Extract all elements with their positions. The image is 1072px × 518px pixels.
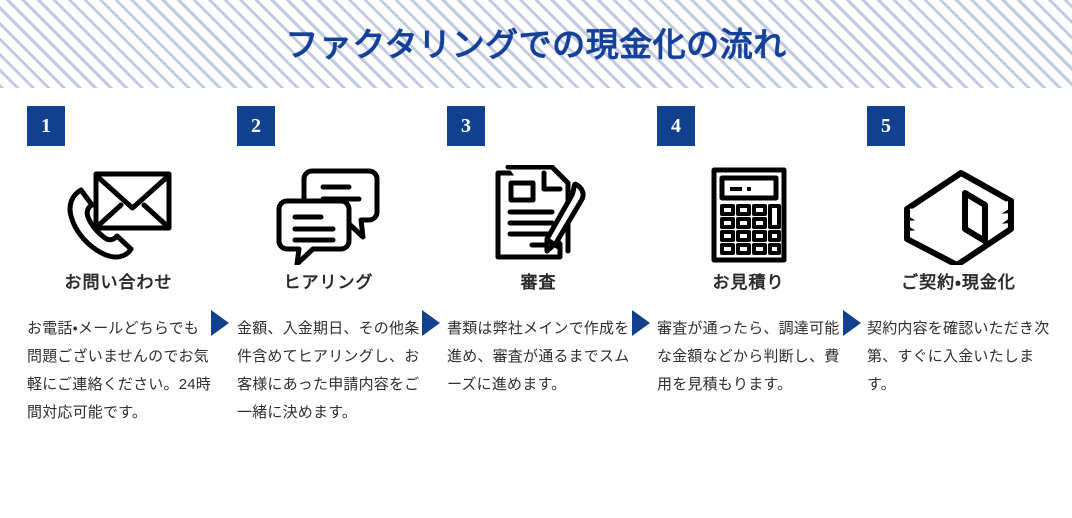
step-description-1: お電話・メールどちらでも問題ございませんのでお気軽にご連絡ください。24時間対応… xyxy=(27,315,213,426)
arrow-step-4-to-5 xyxy=(843,310,861,336)
step-description-3: 書類は弊社メインで作成を進め、審査が通るまでスムーズに進めます。 xyxy=(447,315,633,398)
step-number-badge-5: 5 xyxy=(867,106,905,146)
phone-envelope-icon xyxy=(27,162,210,267)
document-pen-icon xyxy=(447,162,630,267)
step-card-2: 2 ヒアリング 金額、入金期日、その他条件含めてヒアリングし、お客様にあった申請… xyxy=(210,88,420,426)
steps-row: 1 お問い合わせ お電話・メールどちらでも問題ございませんのでお気軽にご連絡くだ… xyxy=(0,88,1072,426)
calculator-icon xyxy=(657,162,840,267)
header-banner: ファクタリングでの現金化の流れ xyxy=(0,0,1072,88)
step-card-4: 4 xyxy=(630,88,840,399)
step-card-1: 1 お問い合わせ お電話・メールどちらでも問題ございませんのでお気軽にご連絡くだ… xyxy=(0,88,210,426)
step-description-4: 審査が通ったら、調達可能な金額などから判断し、費用を見積もります。 xyxy=(657,315,843,398)
flow-steps-section: 1 お問い合わせ お電話・メールどちらでも問題ございませんのでお気軽にご連絡くだ… xyxy=(0,88,1072,518)
arrow-step-3-to-4 xyxy=(632,310,650,336)
speech-bubbles-icon xyxy=(237,162,420,267)
step-number-badge-4: 4 xyxy=(657,106,695,146)
step-number-badge-1: 1 xyxy=(27,106,65,146)
arrow-step-2-to-3 xyxy=(422,310,440,336)
step-label-2: ヒアリング xyxy=(237,273,420,293)
cash-stack-icon xyxy=(867,162,1050,267)
step-number-badge-3: 3 xyxy=(447,106,485,146)
arrow-step-1-to-2 xyxy=(211,310,229,336)
page-title: ファクタリングでの現金化の流れ xyxy=(285,28,786,61)
step-label-1: お問い合わせ xyxy=(27,273,210,293)
step-description-2: 金額、入金期日、その他条件含めてヒアリングし、お客様にあった申請内容をご一緒に決… xyxy=(237,315,423,426)
step-card-3: 3 審査 書類は弊社メインで作成を進め、審査が通るまでスムーズに進めます。 xyxy=(420,88,630,399)
step-label-3: 審査 xyxy=(447,273,630,293)
step-label-5: ご契約・現金化 xyxy=(867,273,1050,293)
step-number-badge-2: 2 xyxy=(237,106,275,146)
step-card-5: 5 ご契約・現金化 契約内容を確認いただき次第、すぐに入金いたします。 xyxy=(840,88,1052,399)
step-description-5: 契約内容を確認いただき次第、すぐに入金いたします。 xyxy=(867,315,1053,398)
step-label-4: お見積り xyxy=(657,273,840,293)
